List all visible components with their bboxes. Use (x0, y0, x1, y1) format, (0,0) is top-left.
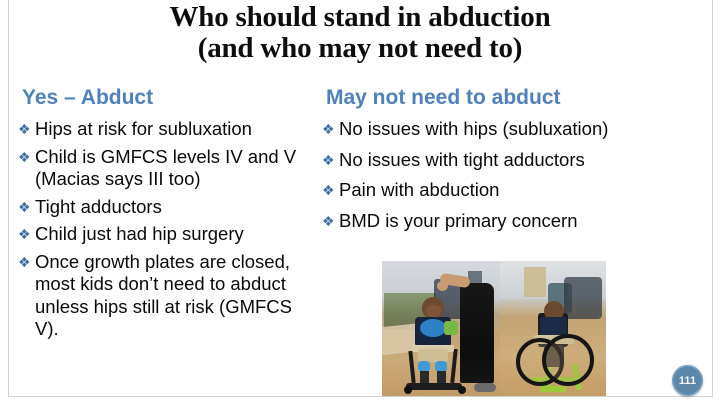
list-item-label: Hips at risk for subluxation (35, 118, 318, 141)
diamond-bullet-icon: ❖ (322, 149, 335, 172)
list-item-label: Child just had hip surgery (35, 223, 318, 246)
photo-wheelchair-wheel-right (542, 334, 594, 386)
slide-title-line-1: Who should stand in abduction (0, 2, 720, 33)
list-item-label: Once growth plates are closed, most kids… (35, 251, 318, 341)
list-item: ❖ No issues with tight adductors (322, 149, 712, 172)
photo-green-toy (444, 321, 458, 335)
list-item: ❖ Pain with abduction (322, 179, 712, 202)
therapy-photo (382, 261, 606, 396)
slide-title: Who should stand in abduction (and who m… (0, 2, 720, 64)
photo-stander-base (406, 383, 462, 390)
page-number-badge: 111 (672, 365, 703, 396)
diamond-bullet-icon: ❖ (18, 251, 31, 274)
list-item-label: Child is GMFCS levels IV and V (Macias s… (35, 146, 318, 191)
list-item: ❖ Child is GMFCS levels IV and V (Macias… (18, 146, 318, 191)
photo-child-face (426, 305, 441, 317)
photo-child-leg-left (420, 371, 429, 383)
list-item: ❖ Once growth plates are closed, most ki… (18, 251, 318, 341)
diamond-bullet-icon: ❖ (322, 118, 335, 141)
photo-panel-wheelchair (500, 261, 606, 396)
photo-panel-standing-frame (382, 261, 500, 396)
list-item: ❖ Child just had hip surgery (18, 223, 318, 246)
list-item: ❖ Hips at risk for subluxation (18, 118, 318, 141)
diamond-bullet-icon: ❖ (18, 118, 31, 141)
photo-adult-figure (460, 283, 494, 383)
list-item-label: Tight adductors (35, 196, 318, 219)
slide-canvas: Who should stand in abduction (and who m… (0, 0, 720, 410)
photo-child-leg-right (437, 371, 446, 383)
right-column-heading: May not need to abduct (326, 86, 712, 110)
list-item: ❖ No issues with hips (subluxation) (322, 118, 712, 141)
left-column: Yes – Abduct ❖ Hips at risk for subluxat… (18, 86, 318, 346)
diamond-bullet-icon: ❖ (18, 223, 31, 246)
photo-doorway (524, 267, 546, 297)
photo-child-chest-support (420, 319, 446, 337)
photo-adult-hand (437, 281, 448, 291)
right-column: May not need to abduct ❖ No issues with … (322, 86, 712, 240)
list-item: ❖ Tight adductors (18, 196, 318, 219)
diamond-bullet-icon: ❖ (18, 196, 31, 219)
photo-stander-caster-right (458, 386, 466, 394)
list-item: ❖ BMD is your primary concern (322, 210, 712, 233)
diamond-bullet-icon: ❖ (18, 146, 31, 169)
photo-background-wheelchair-near (564, 277, 602, 319)
list-item-label: No issues with tight adductors (339, 149, 712, 172)
list-item-label: Pain with abduction (339, 179, 712, 202)
photo-stander-caster-left (404, 386, 412, 394)
diamond-bullet-icon: ❖ (322, 210, 335, 233)
left-column-bullet-list: ❖ Hips at risk for subluxation ❖ Child i… (18, 118, 318, 341)
list-item-label: No issues with hips (subluxation) (339, 118, 712, 141)
photo-wheelchair-footplate (540, 386, 566, 392)
list-item-label: BMD is your primary concern (339, 210, 712, 233)
diamond-bullet-icon: ❖ (322, 179, 335, 202)
photo-adult-shoe (474, 383, 496, 392)
right-column-bullet-list: ❖ No issues with hips (subluxation) ❖ No… (322, 118, 712, 232)
frame-rule-bottom (8, 396, 713, 397)
slide-title-line-2: (and who may not need to) (0, 33, 720, 64)
left-column-heading: Yes – Abduct (22, 86, 318, 110)
